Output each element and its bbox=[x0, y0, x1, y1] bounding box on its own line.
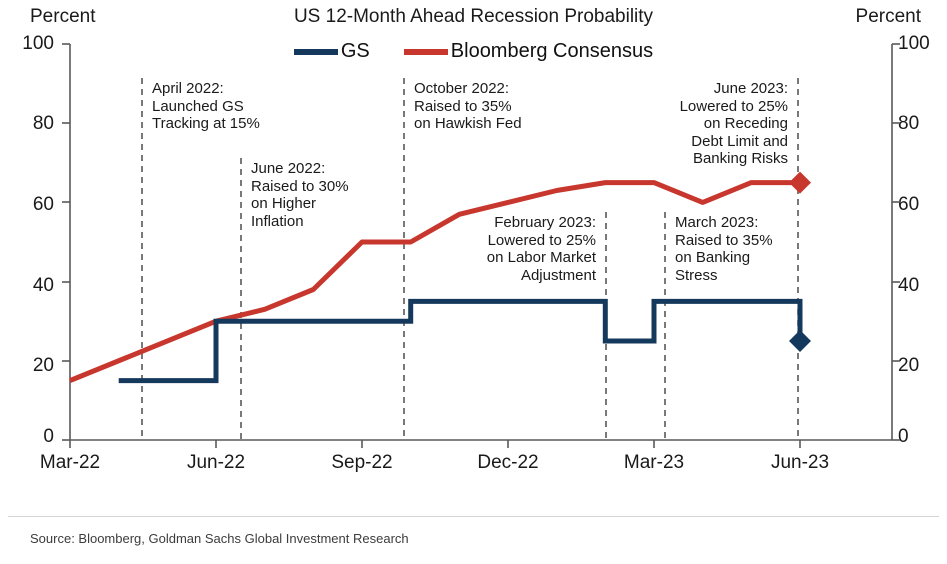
source-note: Source: Bloomberg, Goldman Sachs Global … bbox=[30, 531, 409, 546]
annotation-april-2022: April 2022: Launched GS Tracking at 15% bbox=[152, 80, 337, 133]
annotation-june-2023: June 2023: Lowered to 25% on Receding De… bbox=[628, 80, 788, 168]
annotation-october-2022: October 2022: Raised to 35% on Hawkish F… bbox=[414, 80, 614, 133]
chart-page: Percent Percent US 12-Month Ahead Recess… bbox=[0, 0, 947, 564]
endpoint-marker-bloomberg-consensus bbox=[789, 172, 811, 194]
series-line-gs bbox=[119, 301, 800, 380]
annotation-june-2022: June 2022: Raised to 30% on Higher Infla… bbox=[251, 160, 411, 230]
annotation-february-2023: February 2023: Lowered to 25% on Labor M… bbox=[436, 214, 596, 284]
endpoint-marker-gs bbox=[789, 330, 811, 352]
footer-divider bbox=[8, 516, 939, 517]
annotation-march-2023: March 2023: Raised to 35% on Banking Str… bbox=[675, 214, 835, 284]
chart-canvas: Percent Percent US 12-Month Ahead Recess… bbox=[0, 0, 947, 500]
